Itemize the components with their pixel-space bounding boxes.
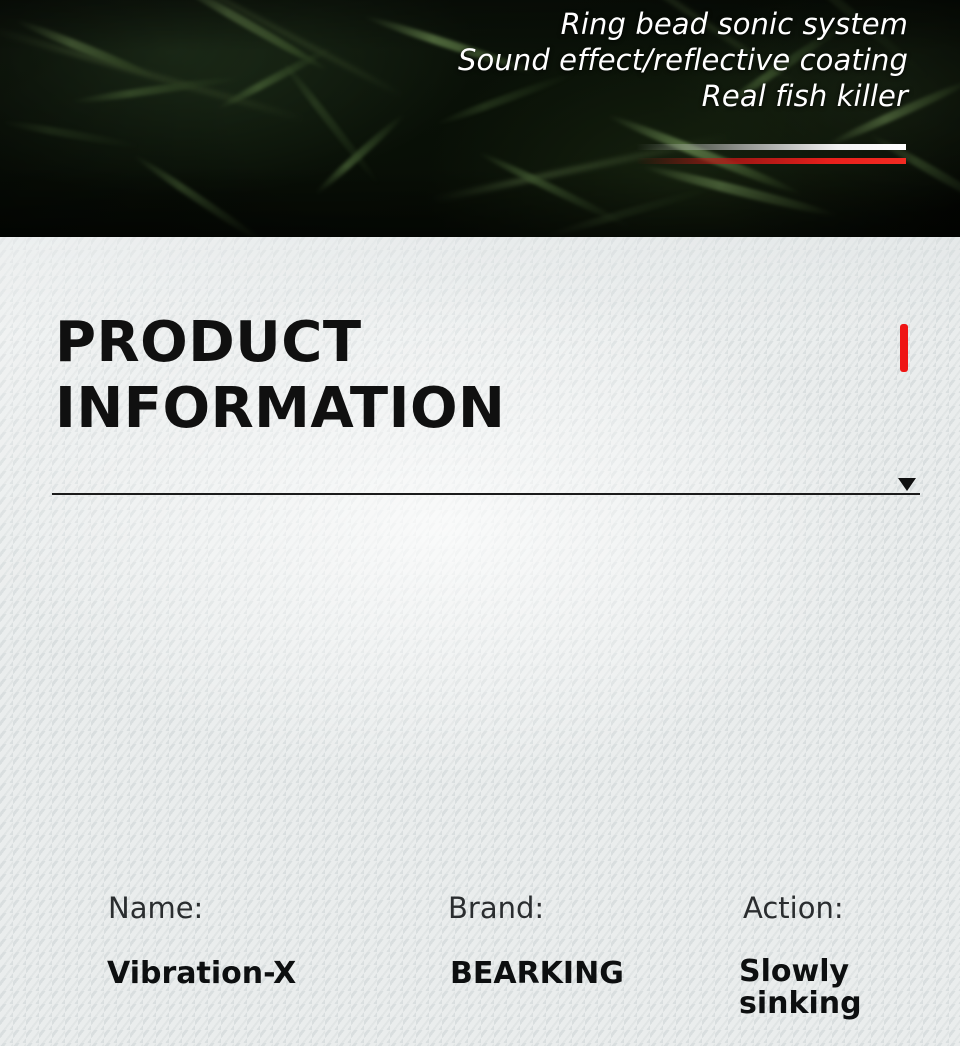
- triangle-down-icon: [898, 478, 916, 491]
- spec-name-value: Vibration-X: [107, 956, 296, 992]
- spec-row: Name: Vibration-X Brand: BEARKING Action…: [0, 878, 960, 1046]
- hero-tagline: Ring bead sonic system Sound effect/refl…: [188, 6, 908, 114]
- accent-line-white: [636, 144, 906, 150]
- hero-banner: Ring bead sonic system Sound effect/refl…: [0, 0, 960, 237]
- product-photo: [0, 520, 960, 880]
- page-title-line-2: INFORMATION: [55, 376, 505, 442]
- page-title-line-1: PRODUCT: [55, 310, 505, 376]
- hero-tagline-line-1: Ring bead sonic system: [188, 6, 908, 42]
- hero-tagline-line-2: Sound effect/reflective coating: [188, 42, 908, 78]
- page-title: PRODUCT INFORMATION: [55, 310, 505, 442]
- spec-name: Name: Vibration-X: [108, 890, 296, 992]
- section-divider: [52, 493, 920, 495]
- spec-action-value-line-1: Slowly: [739, 956, 862, 988]
- hero-tagline-line-3: Real fish killer: [188, 78, 908, 114]
- spec-action: Action: Slowly sinking: [743, 890, 862, 1020]
- spec-brand-label: Brand:: [448, 890, 624, 926]
- spec-action-value-line-2: sinking: [739, 988, 862, 1020]
- spec-brand-value: BEARKING: [450, 956, 624, 992]
- red-accent-marker: [900, 324, 908, 372]
- spec-brand: Brand: BEARKING: [448, 890, 624, 992]
- spec-action-label: Action:: [743, 890, 862, 926]
- product-information-page: Ring bead sonic system Sound effect/refl…: [0, 0, 960, 1046]
- spec-action-value: Slowly sinking: [739, 956, 862, 1020]
- spec-name-label: Name:: [108, 890, 296, 926]
- accent-line-red: [636, 158, 906, 164]
